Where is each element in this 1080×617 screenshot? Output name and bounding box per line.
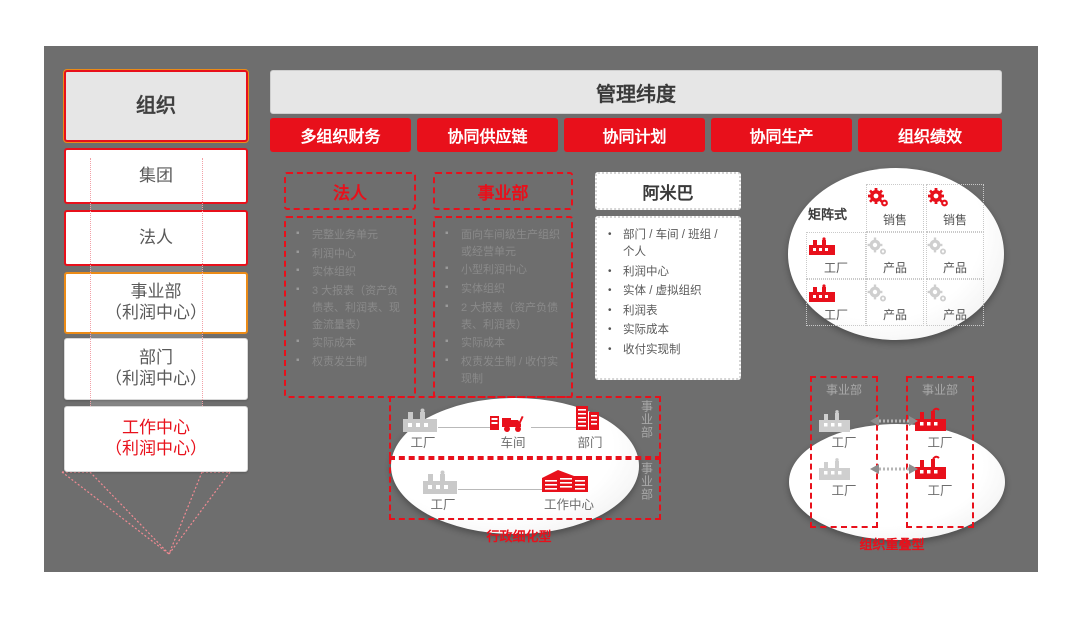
- list-item: 实体组织: [441, 281, 563, 298]
- list-item: 实际成本: [603, 322, 731, 339]
- pyramid-level-business-unit-label: 事业部: [131, 282, 182, 303]
- card-legal-entity-bullets: 完整业务单元 利润中心 实体组织 3 大报表（资产负债表、利润表、现金流量表） …: [292, 227, 406, 371]
- pyramid-level-department-sub: （利润中心）: [105, 369, 207, 390]
- pyramid-level-work-center-sub: （利润中心）: [105, 439, 207, 460]
- admin-node-factory-0: 工厂: [399, 408, 447, 451]
- admin-node-workshop: 车间: [487, 408, 539, 451]
- pyramid-level-business-unit[interactable]: 事业部 （利润中心）: [64, 272, 248, 334]
- pyramid-funnel-arrows: [44, 456, 324, 566]
- overlap-arrow-1: [870, 462, 918, 476]
- list-item: 3 大报表（资产负债表、利润表、现金流量表）: [292, 283, 406, 333]
- list-item: 利润中心: [292, 246, 406, 263]
- matrix-col-label-0: 销售: [867, 211, 923, 228]
- list-item: 实际成本: [441, 335, 563, 352]
- card-business-unit-bullets: 面向车间级生产组织或经营单元 小型利润中心 实体组织 2 大报表（资产负债表、利…: [441, 227, 563, 387]
- list-item: 收付实现制: [603, 342, 731, 359]
- matrix-tag-text: 矩阵式: [808, 207, 847, 222]
- factory-icon: [807, 237, 837, 257]
- admin-node-factory-1: 工厂: [419, 470, 467, 513]
- factory-icon: [807, 284, 837, 304]
- workshop-icon: [487, 408, 535, 434]
- double-arrow-icon: [870, 462, 918, 476]
- matrix-cell-3: 产品: [926, 279, 984, 326]
- card-amoeba-title: 阿米巴: [643, 179, 694, 204]
- list-item: 利润表: [603, 303, 731, 320]
- admin-caption: 行政细化型: [444, 526, 594, 545]
- list-item: 实际成本: [292, 335, 406, 352]
- matrix-cell-0: 产品: [866, 232, 924, 279]
- dimension-button-3-label: 协同生产: [749, 123, 813, 147]
- diagram-canvas: 组织 集团 法人 事业部 （利润中心） 部门 （利润中心） 工作中心 （利润中心…: [44, 46, 1038, 572]
- list-item: 2 大报表（资产负债表、利润表）: [441, 300, 563, 333]
- overlap-caption: 组织重叠型: [817, 534, 967, 553]
- pyramid-level-group[interactable]: 集团: [64, 148, 248, 204]
- admin-group-label-0: 事业部: [639, 400, 652, 439]
- pyramid-level-work-center[interactable]: 工作中心 （利润中心）: [64, 406, 248, 472]
- factory-icon: [816, 410, 856, 434]
- admin-node-label-0: 工厂: [399, 432, 447, 451]
- dimension-button-0-label: 多组织财务: [300, 123, 380, 147]
- management-dimension-title-label: 管理纬度: [596, 78, 676, 107]
- overlap-node-right-0: 工厂: [912, 406, 968, 451]
- overlap-group-label-0: 事业部: [810, 381, 878, 398]
- card-legal-entity-body: 完整业务单元 利润中心 实体组织 3 大报表（资产负债表、利润表、现金流量表） …: [284, 216, 416, 398]
- overlap-arrow-0: [870, 414, 918, 428]
- matrix-cell-label-0: 产品: [867, 259, 923, 276]
- factory-icon: [399, 408, 441, 434]
- gear-icon: [927, 188, 951, 210]
- card-amoeba-bullets: 部门 / 车间 / 班组 / 个人 利润中心 实体 / 虚拟组织 利润表 实际成…: [603, 227, 731, 359]
- pyramid-level-legal-entity[interactable]: 法人: [64, 210, 248, 266]
- dimension-button-4-label: 组织绩效: [898, 123, 962, 147]
- dimension-button-2-label: 协同计划: [602, 123, 666, 147]
- matrix-row-label-0: 工厂: [807, 259, 865, 276]
- list-item: 实体组织: [292, 264, 406, 281]
- list-item: 部门 / 车间 / 班组 / 个人: [603, 227, 731, 262]
- pyramid-title-label: 组织: [136, 94, 176, 118]
- card-business-unit-body: 面向车间级生产组织或经营单元 小型利润中心 实体组织 2 大报表（资产负债表、利…: [433, 216, 573, 398]
- admin-node-department: 部门: [566, 404, 614, 451]
- list-item: 面向车间级生产组织或经营单元: [441, 227, 563, 260]
- factory-icon: [912, 406, 952, 434]
- dimension-button-3[interactable]: 协同生产: [711, 118, 852, 152]
- admin-node-label-3: 工厂: [419, 494, 467, 513]
- pyramid-level-work-center-label: 工作中心: [122, 418, 190, 439]
- list-item: 利润中心: [603, 264, 731, 281]
- factory-icon: [816, 458, 856, 482]
- list-item: 小型利润中心: [441, 262, 563, 279]
- pyramid-level-department[interactable]: 部门 （利润中心）: [64, 338, 248, 400]
- overlap-group-box-1: [906, 376, 974, 528]
- matrix-col-cell-0: 销售: [866, 184, 924, 232]
- factory-icon: [912, 454, 952, 482]
- building-icon: [536, 466, 598, 496]
- list-item: 完整业务单元: [292, 227, 406, 244]
- matrix-cell-label-2: 产品: [867, 306, 923, 323]
- overlap-node-label-3: 工厂: [912, 480, 968, 499]
- overlap-node-left-1: 工厂: [816, 458, 872, 499]
- matrix-row-label-1: 工厂: [807, 306, 865, 323]
- gear-icon: [867, 284, 889, 304]
- management-dimension-title: 管理纬度: [270, 70, 1002, 114]
- matrix-col-cell-1: 销售: [926, 184, 984, 232]
- overlap-node-label-0: 工厂: [816, 432, 872, 451]
- list-item: 权责发生制 / 收付实现制: [441, 354, 563, 387]
- admin-node-work-center: 工作中心: [536, 466, 602, 513]
- pyramid-level-department-label: 部门: [139, 348, 173, 369]
- gear-icon: [867, 188, 891, 210]
- gear-icon: [867, 237, 889, 257]
- card-business-unit-title: 事业部: [478, 179, 529, 204]
- gear-icon: [927, 284, 949, 304]
- overlap-node-label-1: 工厂: [912, 432, 968, 451]
- pyramid-level-legal-entity-label: 法人: [139, 228, 173, 249]
- pyramid-level-business-unit-sub: （利润中心）: [105, 303, 207, 324]
- matrix-cell-label-3: 产品: [927, 306, 983, 323]
- matrix-cell-label-1: 产品: [927, 259, 983, 276]
- overlap-node-label-2: 工厂: [816, 480, 872, 499]
- building-icon: [566, 404, 608, 434]
- card-legal-entity-title: 法人: [333, 179, 367, 204]
- admin-group-label-1: 事业部: [639, 462, 652, 501]
- overlap-node-right-1: 工厂: [912, 454, 968, 499]
- admin-node-label-4: 工作中心: [536, 494, 602, 513]
- gear-icon: [927, 237, 949, 257]
- card-legal-entity-header: 法人: [284, 172, 416, 210]
- overlap-node-left-0: 工厂: [816, 410, 872, 451]
- dimension-button-0[interactable]: 多组织财务: [270, 118, 411, 152]
- admin-node-label-1: 车间: [487, 432, 539, 451]
- factory-icon: [419, 470, 461, 496]
- matrix-row-cell-0: 工厂: [806, 232, 866, 279]
- matrix-row-cell-1: 工厂: [806, 279, 866, 326]
- matrix-cell-1: 产品: [926, 232, 984, 279]
- matrix-grid: 矩阵式 销售: [806, 184, 988, 326]
- double-arrow-icon: [870, 414, 918, 428]
- overlap-group-box-0: [810, 376, 878, 528]
- list-item: 权责发生制: [292, 354, 406, 371]
- matrix-cell-2: 产品: [866, 279, 924, 326]
- dimension-button-1-label: 协同供应链: [447, 123, 527, 147]
- pyramid-level-group-label: 集团: [139, 166, 173, 187]
- matrix-tag-label: 矩阵式: [808, 204, 847, 223]
- card-business-unit-header: 事业部: [433, 172, 573, 210]
- admin-node-label-2: 部门: [566, 432, 614, 451]
- dimension-button-1[interactable]: 协同供应链: [417, 118, 558, 152]
- pyramid-title-box[interactable]: 组织: [64, 70, 248, 142]
- card-amoeba-body: 部门 / 车间 / 班组 / 个人 利润中心 实体 / 虚拟组织 利润表 实际成…: [595, 216, 741, 380]
- dimension-button-2[interactable]: 协同计划: [564, 118, 705, 152]
- card-amoeba-header: 阿米巴: [595, 172, 741, 210]
- dimension-button-4[interactable]: 组织绩效: [858, 118, 1002, 152]
- matrix-col-label-1: 销售: [927, 211, 983, 228]
- list-item: 实体 / 虚拟组织: [603, 283, 731, 300]
- overlap-group-label-1: 事业部: [906, 381, 974, 398]
